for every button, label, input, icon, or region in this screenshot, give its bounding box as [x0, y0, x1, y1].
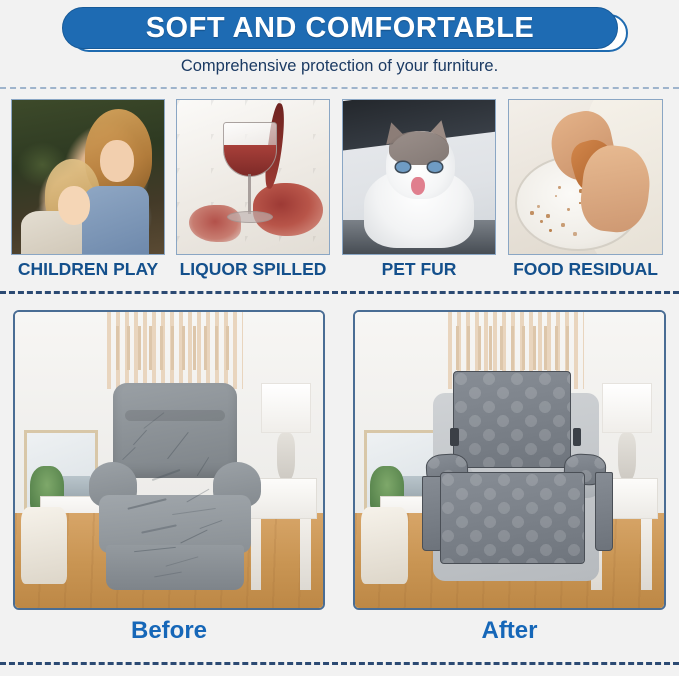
comparison-label-after: After [353, 617, 666, 645]
feature-label-children-play: CHILDREN PLAY [0, 259, 177, 280]
food-crumbs-photo [509, 100, 662, 254]
wine-spill-photo [177, 100, 329, 254]
feature-photo-frame [11, 99, 165, 255]
covered-recliner [429, 371, 602, 590]
feature-item-pet-fur: PET FUR [342, 99, 496, 255]
feature-photo-frame [508, 99, 663, 255]
children-photo [12, 100, 164, 254]
cat-photo [343, 100, 495, 254]
comparison-panel-before: Before [13, 310, 325, 610]
worn-recliner [89, 383, 261, 590]
feature-label-pet-fur: PET FUR [330, 259, 508, 280]
divider-bottom [0, 662, 679, 665]
banner-fill: SOFT AND COMFORTABLE [62, 7, 618, 49]
after-room-scene [355, 312, 664, 608]
banner-title: SOFT AND COMFORTABLE [146, 14, 535, 43]
before-room-scene [15, 312, 323, 608]
feature-item-liquor-spilled: LIQUOR SPILLED [176, 99, 330, 255]
divider-top [0, 87, 679, 89]
comparison-label-before: Before [13, 617, 325, 645]
feature-item-children-play: CHILDREN PLAY [11, 99, 165, 255]
header-banner: SOFT AND COMFORTABLE [0, 4, 679, 54]
divider-middle [0, 291, 679, 294]
feature-item-food-residual: FOOD RESIDUAL [508, 99, 663, 255]
after-photo-frame [353, 310, 666, 610]
feature-photo-frame [176, 99, 330, 255]
feature-label-food-residual: FOOD RESIDUAL [496, 259, 675, 280]
feature-label-liquor-spilled: LIQUOR SPILLED [164, 259, 342, 280]
comparison-panel-after: After [353, 310, 666, 610]
feature-photo-frame [342, 99, 496, 255]
before-photo-frame [13, 310, 325, 610]
header-subtitle: Comprehensive protection of your furnitu… [0, 57, 679, 76]
